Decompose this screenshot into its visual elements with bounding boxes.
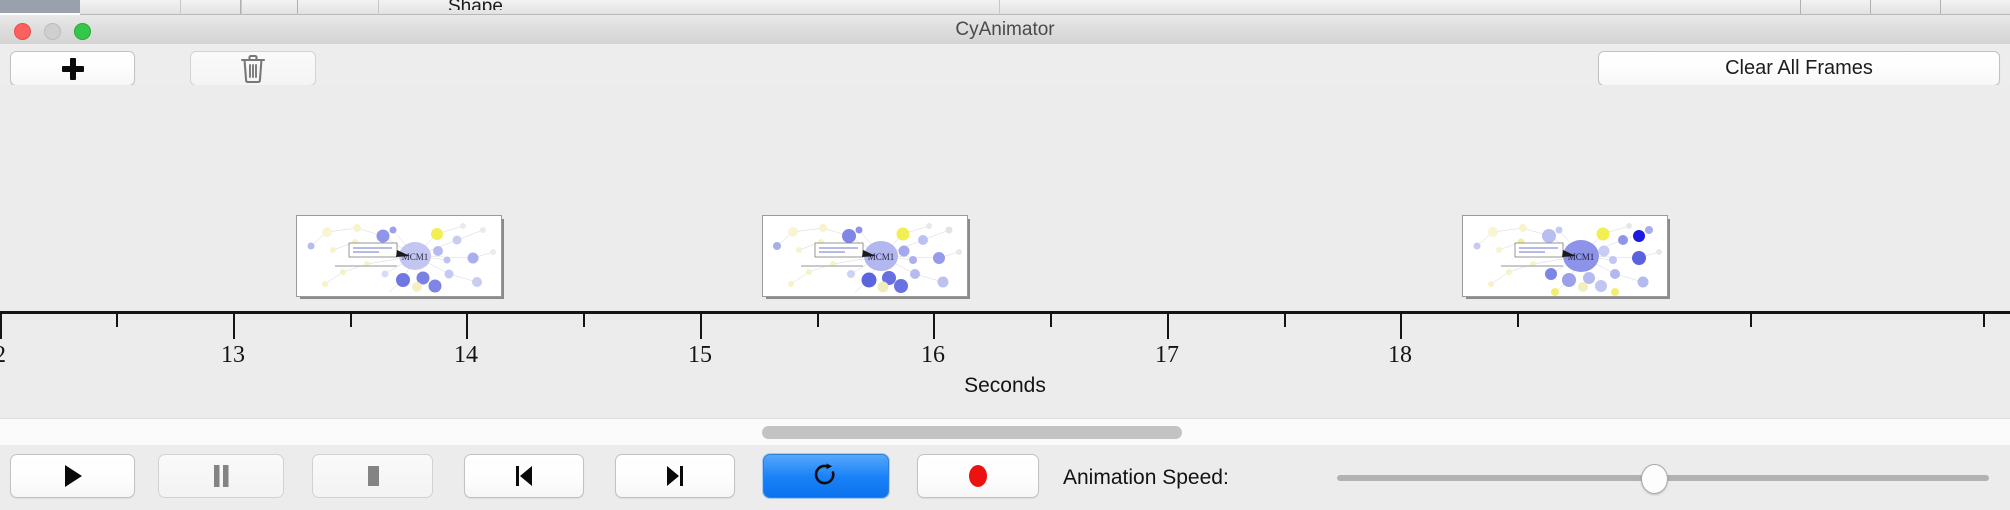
frame-toolbar: Clear All Frames — [0, 44, 2010, 86]
timeline-scrollbar[interactable] — [0, 418, 2010, 446]
background-cell — [298, 0, 379, 15]
clear-all-frames-button[interactable]: Clear All Frames — [1598, 51, 2000, 86]
background-divider — [240, 0, 241, 14]
delete-frame-button[interactable] — [190, 51, 316, 86]
first-frame-button[interactable] — [464, 454, 584, 498]
network-graph-icon: MCM1 — [763, 216, 967, 296]
background-window-strip: Shape — [0, 0, 2010, 15]
background-cell — [80, 0, 181, 15]
ruler-tick-minor — [1983, 314, 1985, 327]
ruler-tick-major — [466, 314, 468, 339]
loop-button[interactable] — [763, 454, 889, 498]
loop-icon — [814, 463, 838, 489]
keyframe-thumbnail[interactable]: MCM1 — [1462, 215, 1670, 299]
ruler-tick-minor — [583, 314, 585, 327]
window-title: CyAnimator — [0, 15, 2010, 44]
play-icon — [62, 464, 84, 488]
ruler-tick-label: 16 — [921, 342, 945, 369]
pause-icon — [211, 464, 231, 488]
network-graph-icon: MCM1 — [297, 216, 501, 296]
background-divider — [297, 0, 298, 14]
animation-speed-slider[interactable] — [1337, 464, 1989, 492]
ruler-tick-label: 17 — [1155, 342, 1179, 369]
keyframe-thumbnail[interactable]: MCM1 — [296, 215, 504, 299]
scrollbar-thumb[interactable] — [762, 426, 1182, 439]
plus-icon — [61, 57, 85, 81]
background-divider — [1800, 0, 1801, 14]
ruler-tick-minor — [1284, 314, 1286, 327]
window-titlebar: CyAnimator — [0, 15, 2010, 45]
ruler-tick-minor — [1750, 314, 1752, 327]
timeline-canvas[interactable]: MCM1 — [0, 85, 2010, 311]
play-button[interactable] — [10, 454, 135, 498]
ruler-tick-minor — [116, 314, 118, 327]
ruler-tick-label: 18 — [1388, 342, 1412, 369]
background-divider — [1940, 0, 1941, 14]
network-thumbnail-pale: MCM1 — [296, 215, 502, 297]
svg-text:MCM1: MCM1 — [1568, 252, 1595, 262]
record-button[interactable] — [917, 454, 1039, 498]
background-shape-label: Shape — [448, 0, 503, 10]
playback-control-bar: Animation Speed: — [0, 445, 2010, 510]
ruler-tick-minor — [1517, 314, 1519, 327]
ruler-tick-major — [1400, 314, 1402, 339]
network-thumbnail-bold: MCM1 — [1462, 215, 1668, 297]
background-cell — [1000, 0, 2010, 15]
ruler-tick-major — [933, 314, 935, 339]
stop-button[interactable] — [312, 454, 433, 498]
ruler-axis-title: Seconds — [0, 374, 2010, 398]
skip-to-start-icon — [513, 464, 535, 488]
animation-speed-label: Animation Speed: — [1063, 466, 1229, 490]
ruler-tick-minor — [350, 314, 352, 327]
trash-icon — [240, 54, 266, 84]
ruler-tick-major — [1167, 314, 1169, 339]
ruler-tick-major — [700, 314, 702, 339]
ruler-tick-label: 2 — [0, 342, 6, 369]
background-cell — [242, 0, 298, 15]
ruler-tick-minor — [817, 314, 819, 327]
ruler-tick-label: 14 — [454, 342, 478, 369]
add-frame-button[interactable] — [10, 51, 135, 86]
ruler-baseline — [0, 311, 2010, 314]
background-cell — [181, 0, 242, 15]
stop-icon — [363, 464, 383, 488]
svg-text:MCM1: MCM1 — [868, 252, 895, 262]
ruler-tick-label: 15 — [688, 342, 712, 369]
ruler-tick-major — [0, 314, 2, 339]
cyanimator-window: Shape CyAnimator Clear All Frames — [0, 0, 2010, 510]
keyframe-thumbnail[interactable]: MCM1 — [762, 215, 970, 299]
last-frame-button[interactable] — [615, 454, 735, 498]
ruler-tick-major — [233, 314, 235, 339]
timeline-ruler[interactable]: 2131415161718 Seconds — [0, 311, 2010, 418]
svg-text:MCM1: MCM1 — [402, 252, 429, 262]
skip-to-end-icon — [664, 464, 686, 488]
network-graph-icon: MCM1 — [1463, 216, 1667, 296]
background-divider — [1870, 0, 1871, 14]
slider-thumb[interactable] — [1641, 464, 1668, 494]
ruler-tick-minor — [1050, 314, 1052, 327]
record-icon — [966, 463, 990, 489]
network-thumbnail-mid: MCM1 — [762, 215, 968, 297]
ruler-tick-label: 13 — [221, 342, 245, 369]
pause-button[interactable] — [158, 454, 284, 498]
background-window-titlebar-fragment — [0, 0, 80, 13]
